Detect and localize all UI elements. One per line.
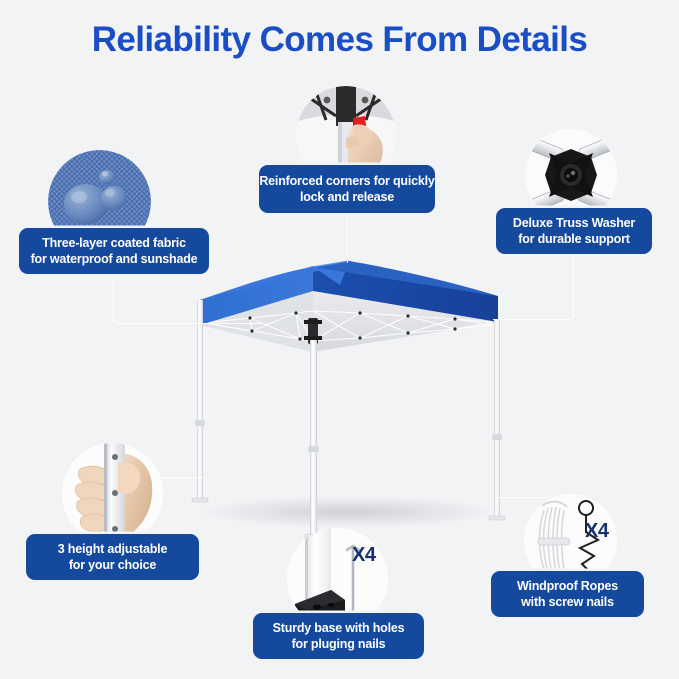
callout-fabric-line1: Three-layer coated fabric bbox=[42, 235, 186, 251]
infographic-page: Reliability Comes From Details bbox=[0, 0, 679, 679]
callout-height-label[interactable]: 3 height adjustable for your choice bbox=[26, 534, 199, 580]
adjustable-leg-grip-photo bbox=[62, 443, 163, 544]
callout-ropes-label[interactable]: Windproof Ropes with screw nails bbox=[491, 571, 644, 617]
callout-corners-line1: Reinforced corners for quickly bbox=[259, 173, 434, 189]
callout-height-line2: for your choice bbox=[69, 557, 156, 573]
ropes-quantity-badge: X4 bbox=[585, 520, 608, 543]
callout-corners-label[interactable]: Reinforced corners for quickly lock and … bbox=[259, 165, 435, 213]
callout-ropes-line1: Windproof Ropes bbox=[517, 578, 618, 594]
callout-truss-washer-line2: for durable support bbox=[518, 231, 629, 247]
callout-truss-washer-label[interactable]: Deluxe Truss Washer for durable support bbox=[496, 208, 652, 254]
callout-fabric-label[interactable]: Three-layer coated fabric for waterproof… bbox=[19, 228, 209, 274]
callout-height-line1: 3 height adjustable bbox=[58, 541, 167, 557]
base-quantity-badge: X4 bbox=[352, 544, 375, 567]
callout-truss-washer-line1: Deluxe Truss Washer bbox=[513, 215, 635, 231]
callout-corners-line2: lock and release bbox=[300, 189, 394, 205]
callout-base-line1: Sturdy base with holes bbox=[273, 620, 405, 636]
callout-fabric-line2: for waterproof and sunshade bbox=[31, 251, 198, 267]
callout-base-line2: for pluging nails bbox=[292, 636, 386, 652]
callout-ropes-line2: with screw nails bbox=[521, 594, 614, 610]
callout-base-label[interactable]: Sturdy base with holes for pluging nails bbox=[253, 613, 424, 659]
